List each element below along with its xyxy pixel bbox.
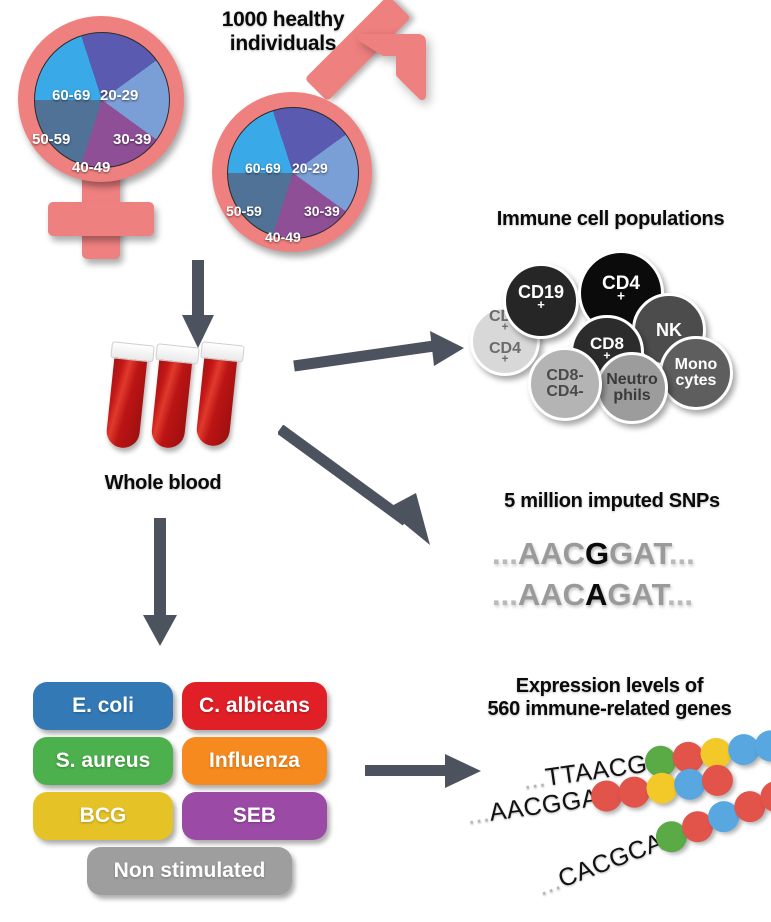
cell-label-dp-line2: CD4+: [489, 341, 521, 373]
snps-title: 5 million imputed SNPs: [462, 490, 762, 513]
cell-label-nk: NK: [656, 321, 682, 339]
cell-label-cd4: CD4+: [602, 274, 640, 312]
snp-left: AAC: [518, 536, 585, 571]
snp-variant: A: [585, 577, 607, 612]
stimulus-s-aureus[interactable]: S. aureus: [33, 737, 173, 785]
snp-variant: G: [585, 536, 609, 571]
cell-label-neutrophils-line2: phils: [606, 388, 658, 404]
snp-sequence-row: ...AACGGAT...: [492, 536, 695, 572]
cell-label-neutrophils-line1: Neutro: [606, 372, 658, 388]
genes-title-line2: 560 immune-related genes: [452, 698, 767, 721]
gene-bead: [700, 763, 735, 798]
snp-right: GAT: [607, 577, 667, 612]
cell-neutrophils: Neutro phils: [596, 352, 668, 424]
genes-title: Expression levels of 560 immune-related …: [452, 675, 767, 721]
cell-label-dn-line2: CD4-: [546, 384, 583, 400]
cell-label-monocytes-line2: cytes: [675, 373, 718, 389]
snp-suffix: ...: [667, 577, 693, 612]
snp-right: GAT: [609, 536, 669, 571]
cell-label-dn-line1: CD8-: [546, 368, 583, 384]
stimulus-e-coli[interactable]: E. coli: [33, 682, 173, 730]
cell-cd19: CD19+: [503, 263, 579, 339]
cell-cd8neg-cd4neg: CD8- CD4-: [528, 347, 602, 421]
arrow-stimuli-to-genes: [365, 750, 485, 794]
snp-prefix: ...: [492, 536, 518, 571]
figure-canvas: 1000 healthy individuals 20-29 30-39 40-…: [0, 0, 771, 922]
stimulus-c-albicans[interactable]: C. albicans: [182, 682, 327, 730]
snp-prefix: ...: [492, 577, 518, 612]
arrow-blood-to-stimuli: [140, 518, 180, 648]
stimulus-seb[interactable]: SEB: [182, 792, 327, 840]
cell-label-monocytes-line1: Mono: [675, 357, 718, 373]
stimulus-non-stimulated[interactable]: Non stimulated: [87, 847, 292, 895]
cell-label-cd19: CD19+: [518, 283, 564, 319]
stimulus-bcg[interactable]: BCG: [33, 792, 173, 840]
snp-sequence-row: ...AACAGAT...: [492, 577, 693, 613]
snp-left: AAC: [518, 577, 585, 612]
snp-suffix: ...: [669, 536, 695, 571]
cell-monocytes: Mono cytes: [659, 336, 733, 410]
genes-title-line1: Expression levels of: [452, 675, 767, 698]
stimulus-influenza[interactable]: Influenza: [182, 737, 327, 785]
